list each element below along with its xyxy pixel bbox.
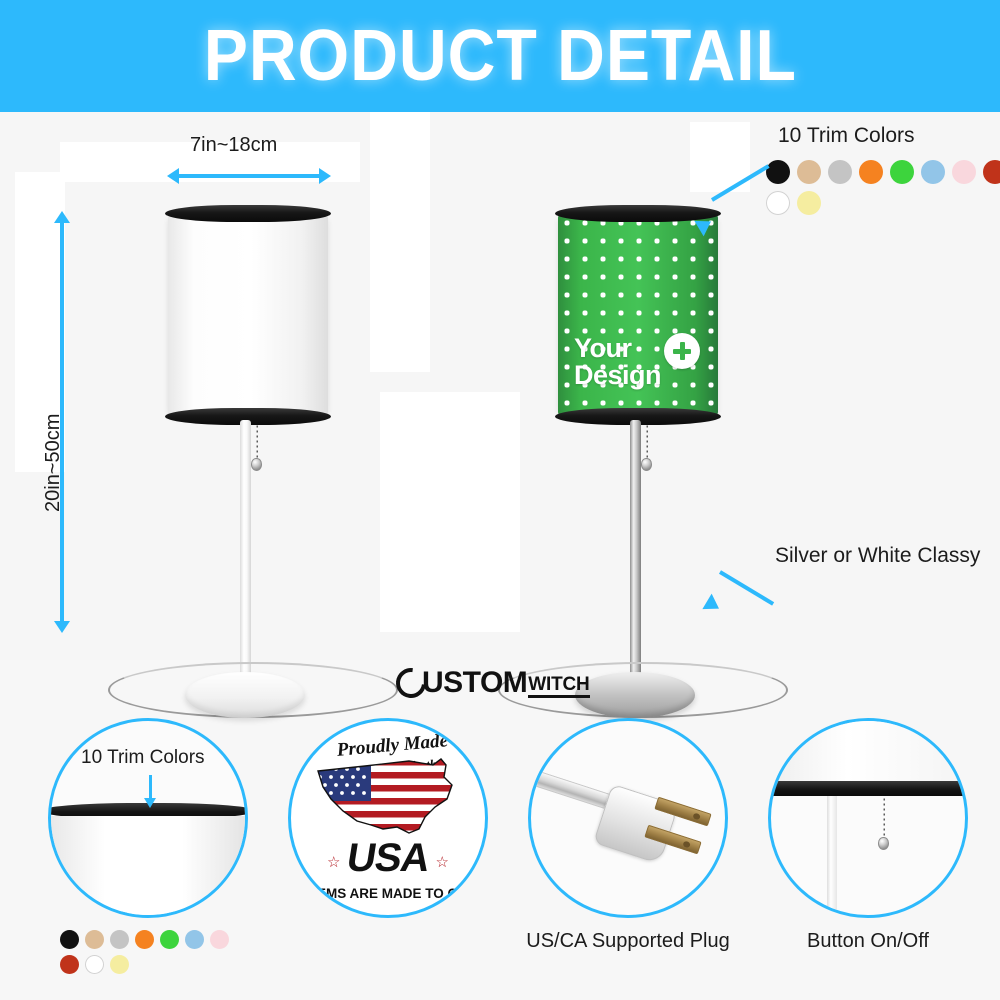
plus-icon bbox=[664, 333, 700, 369]
height-dimension-arrow bbox=[60, 222, 64, 622]
lamp-base-silver bbox=[575, 672, 695, 718]
usa-subtitle: ALL ITEMS ARE MADE TO ORDER! bbox=[288, 886, 488, 901]
feature-swatch-black[interactable] bbox=[60, 930, 79, 949]
pull-chain-green[interactable] bbox=[646, 424, 648, 460]
switch-pull-chain[interactable] bbox=[883, 797, 885, 839]
feature-usa-circle: Proudly Made in the bbox=[288, 718, 488, 918]
base-finish-label: Silver or White Classy bbox=[775, 544, 980, 568]
usa-star-right: ☆ bbox=[436, 853, 449, 871]
pull-chain-switch-icon bbox=[771, 721, 965, 915]
logo-secondary-text: WITCH bbox=[528, 675, 589, 698]
usa-word: USA bbox=[344, 836, 433, 881]
bg-wash-4 bbox=[380, 392, 520, 632]
lamp-white bbox=[130, 192, 370, 642]
trim-swatch-red[interactable] bbox=[983, 160, 1000, 184]
feature-swatch-green[interactable] bbox=[160, 930, 179, 949]
design-line-1: Your bbox=[574, 335, 661, 363]
lampshade-white bbox=[168, 214, 328, 416]
lampshade-green: Your Design bbox=[558, 214, 718, 416]
feature-trim-inner-label: 10 Trim Colors bbox=[81, 747, 205, 769]
feature-trim-swatches bbox=[60, 930, 250, 974]
product-detail-page: PRODUCT DETAIL 7in~18cm 20in~50cm bbox=[0, 0, 1000, 1000]
plug-cord bbox=[528, 767, 615, 811]
trim-swatch-tan[interactable] bbox=[797, 160, 821, 184]
trim-color-swatches bbox=[766, 160, 1000, 215]
trim-swatch-yellow[interactable] bbox=[797, 191, 821, 215]
logo-primary-text: USTOM bbox=[422, 668, 527, 698]
feature-plug-circle bbox=[528, 718, 728, 918]
trim-swatch-gray[interactable] bbox=[828, 160, 852, 184]
page-title: PRODUCT DETAIL bbox=[203, 15, 796, 97]
bg-wash-3 bbox=[370, 112, 430, 372]
lampshade-green-surface: Your Design bbox=[558, 214, 718, 416]
trim-swatch-green[interactable] bbox=[890, 160, 914, 184]
header-banner: PRODUCT DETAIL bbox=[0, 0, 1000, 112]
trim-swatch-pink[interactable] bbox=[952, 160, 976, 184]
usa-badge: Proudly Made in the bbox=[291, 721, 485, 915]
trim-swatch-black[interactable] bbox=[766, 160, 790, 184]
width-dimension-label: 7in~18cm bbox=[190, 134, 277, 157]
trim-swatch-orange[interactable] bbox=[859, 160, 883, 184]
design-line-2: Design bbox=[574, 362, 661, 390]
trim-colors-heading: 10 Trim Colors bbox=[778, 124, 915, 148]
lampshade-white-trim-top bbox=[165, 205, 331, 222]
switch-pole bbox=[827, 796, 837, 918]
switch-shade-bottom bbox=[768, 721, 968, 783]
trim-closeup-shade bbox=[48, 816, 248, 915]
feature-swatch-white[interactable] bbox=[85, 955, 104, 974]
your-design-text: Your Design bbox=[574, 335, 661, 390]
feature-swatch-light-blue[interactable] bbox=[185, 930, 204, 949]
feature-trim-colors-circle: 10 Trim Colors bbox=[48, 718, 248, 918]
pull-chain-white[interactable] bbox=[256, 424, 258, 460]
pull-chain-ball-white[interactable] bbox=[251, 458, 262, 471]
lamp-base-white bbox=[185, 672, 305, 718]
feature-switch-circle bbox=[768, 718, 968, 918]
switch-pull-chain-ball[interactable] bbox=[878, 837, 889, 850]
lampshade-white-surface bbox=[168, 214, 328, 416]
feature-swatch-red[interactable] bbox=[60, 955, 79, 974]
pull-chain-ball-green[interactable] bbox=[641, 458, 652, 471]
feature-swatch-pink[interactable] bbox=[210, 930, 229, 949]
switch-trim-band bbox=[768, 781, 968, 796]
power-plug-icon bbox=[531, 721, 725, 915]
width-dimension-arrow bbox=[178, 174, 320, 178]
feature-switch-caption: Button On/Off bbox=[748, 930, 988, 953]
trim-swatch-white[interactable] bbox=[766, 191, 790, 215]
brand-logo: USTOM WITCH bbox=[396, 668, 590, 698]
trim-swatch-light-blue[interactable] bbox=[921, 160, 945, 184]
feature-swatch-gray[interactable] bbox=[110, 930, 129, 949]
feature-plug-caption: US/CA Supported Plug bbox=[493, 930, 763, 953]
feature-swatch-tan[interactable] bbox=[85, 930, 104, 949]
usa-star-left: ☆ bbox=[327, 853, 340, 871]
feature-trim-down-arrow bbox=[149, 775, 152, 799]
usa-flag-map-icon bbox=[313, 755, 459, 841]
feature-swatch-yellow[interactable] bbox=[110, 955, 129, 974]
main-stage: 7in~18cm 20in~50cm Your bbox=[0, 112, 1000, 660]
feature-swatch-orange[interactable] bbox=[135, 930, 154, 949]
